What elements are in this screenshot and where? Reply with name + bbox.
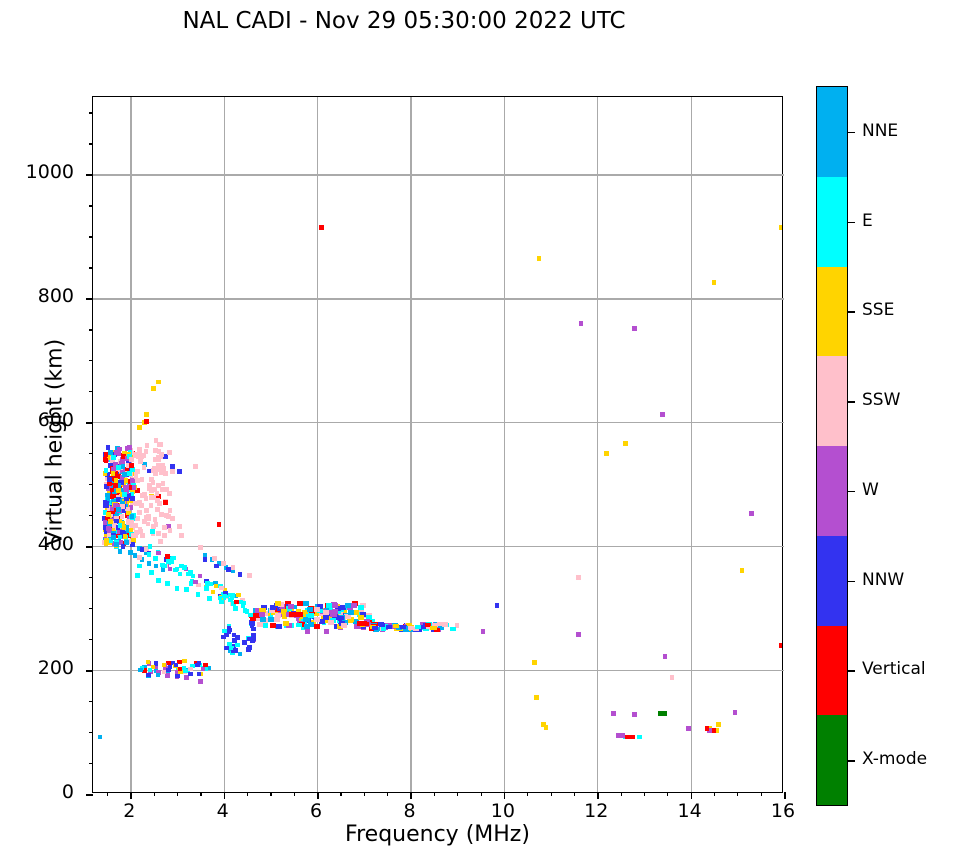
data-point — [297, 601, 303, 606]
data-point — [604, 451, 609, 456]
colorbar-tick — [848, 132, 855, 134]
data-point — [106, 512, 111, 517]
data-point — [779, 643, 782, 648]
x-tick-minor — [107, 792, 108, 796]
data-point — [175, 674, 180, 678]
data-point — [450, 627, 456, 631]
data-point — [130, 514, 135, 519]
data-point — [104, 452, 109, 457]
y-tick-minor — [89, 453, 93, 454]
x-tick-label: 12 — [566, 800, 626, 822]
x-tick-label: 6 — [286, 800, 346, 822]
x-tick-minor — [387, 792, 388, 796]
data-point — [378, 622, 384, 626]
data-point — [250, 638, 255, 642]
data-point — [345, 603, 351, 608]
x-tick-minor — [527, 792, 528, 796]
y-tick-major — [86, 422, 93, 424]
data-point — [198, 679, 203, 684]
plot-area — [92, 96, 783, 793]
colorbar-tick — [848, 401, 855, 403]
y-tick-minor — [89, 732, 93, 733]
data-point — [232, 633, 237, 637]
data-point — [156, 673, 161, 677]
x-tick-major — [130, 792, 132, 799]
data-point — [116, 507, 121, 512]
x-tick-major — [224, 792, 226, 799]
data-point — [779, 225, 782, 230]
x-tick-minor — [644, 792, 645, 796]
colorbar-segment-sse — [817, 267, 847, 357]
data-point — [140, 477, 145, 482]
x-tick-minor — [247, 792, 248, 796]
data-point — [304, 624, 310, 629]
y-tick-minor — [89, 329, 93, 330]
data-point — [630, 735, 635, 740]
data-point — [144, 419, 149, 424]
data-point — [289, 612, 295, 617]
data-point — [106, 526, 111, 531]
data-point — [164, 513, 169, 518]
data-point — [121, 464, 126, 469]
y-tick-minor — [89, 267, 93, 268]
data-point — [134, 474, 139, 479]
data-point — [138, 459, 143, 464]
data-point — [198, 574, 203, 578]
data-point — [170, 516, 175, 521]
y-tick-minor — [89, 205, 93, 206]
data-point — [105, 503, 110, 508]
data-point — [162, 525, 167, 530]
data-point — [288, 604, 294, 609]
data-point — [415, 625, 421, 629]
x-tick-minor — [714, 792, 715, 796]
data-point — [222, 594, 227, 598]
data-point — [116, 465, 121, 470]
data-point — [111, 535, 116, 540]
data-point — [107, 477, 112, 482]
data-point — [108, 519, 113, 524]
data-point — [156, 531, 161, 536]
data-point — [170, 469, 175, 474]
data-point — [149, 570, 154, 575]
data-point — [205, 581, 210, 585]
data-point — [227, 628, 232, 632]
data-point — [153, 471, 158, 476]
colorbar-tick — [848, 311, 855, 313]
data-point — [393, 624, 399, 628]
data-point — [135, 573, 140, 578]
data-point — [137, 555, 142, 560]
data-point — [576, 575, 581, 580]
x-tick-minor — [761, 792, 762, 796]
data-point — [125, 507, 130, 512]
data-point — [179, 564, 184, 568]
data-point — [344, 614, 350, 619]
data-point — [113, 483, 118, 488]
data-point — [188, 667, 193, 671]
data-point — [127, 471, 132, 476]
x-tick-minor — [340, 792, 341, 796]
data-point — [219, 586, 224, 590]
data-point — [145, 443, 150, 448]
data-point — [156, 380, 161, 385]
x-tick-minor — [364, 792, 365, 796]
data-point — [137, 564, 142, 569]
data-point — [110, 488, 115, 493]
x-tick-label: 8 — [379, 800, 439, 822]
data-point — [323, 610, 329, 615]
data-point — [118, 523, 123, 528]
data-point — [144, 515, 149, 520]
data-point — [386, 625, 392, 629]
data-point — [733, 710, 738, 715]
colorbar-tick — [848, 760, 855, 762]
x-axis-label: Frequency (MHz) — [92, 822, 783, 847]
data-point — [233, 648, 238, 652]
colorbar-segment-nne — [817, 87, 847, 177]
data-point — [314, 624, 320, 629]
data-point — [105, 493, 110, 498]
data-point — [171, 556, 176, 560]
data-point — [146, 660, 151, 664]
data-point — [251, 633, 256, 637]
data-point — [144, 496, 149, 501]
data-point — [576, 632, 581, 637]
data-point — [148, 544, 153, 548]
data-point — [686, 726, 691, 731]
data-point — [294, 612, 300, 617]
data-point — [363, 622, 369, 626]
data-point — [166, 668, 171, 672]
data-point — [221, 561, 226, 566]
data-point — [236, 593, 241, 597]
data-point — [136, 454, 141, 459]
data-point — [319, 225, 324, 230]
data-point — [332, 603, 338, 608]
data-point — [712, 280, 717, 285]
y-tick-minor — [89, 360, 93, 361]
data-point — [226, 567, 231, 572]
data-point — [162, 533, 167, 538]
data-point — [118, 549, 123, 554]
colorbar-label-ssw: SSW — [862, 390, 900, 410]
data-point — [182, 659, 187, 663]
data-point — [324, 629, 329, 634]
data-point — [149, 503, 154, 508]
data-point — [153, 448, 158, 453]
data-point — [160, 463, 165, 468]
x-tick-minor — [177, 792, 178, 796]
data-point — [203, 557, 208, 562]
data-point — [177, 524, 182, 529]
data-point — [274, 617, 280, 622]
data-point — [147, 561, 152, 566]
data-point — [156, 578, 161, 583]
x-tick-major — [691, 792, 693, 799]
data-point — [158, 442, 163, 447]
data-point — [165, 581, 170, 586]
data-point — [623, 441, 628, 446]
data-point — [148, 668, 153, 672]
data-point — [177, 469, 182, 474]
data-point — [238, 652, 243, 657]
data-point — [135, 516, 140, 521]
data-point — [144, 412, 149, 417]
x-tick-minor — [294, 792, 295, 796]
data-point — [127, 445, 132, 450]
data-point — [358, 605, 364, 610]
data-point — [193, 580, 198, 584]
data-point — [184, 587, 189, 592]
data-point — [532, 660, 537, 665]
data-point — [146, 673, 151, 677]
data-point — [275, 601, 281, 606]
data-point — [114, 542, 119, 547]
data-point — [663, 654, 668, 659]
data-point — [129, 463, 134, 468]
data-point — [332, 609, 338, 614]
y-tick-major — [86, 298, 93, 300]
data-point — [495, 603, 500, 608]
data-point — [263, 623, 268, 628]
data-point — [231, 565, 236, 570]
data-point — [151, 386, 156, 391]
data-point — [179, 533, 184, 538]
data-point — [207, 596, 212, 601]
data-point — [637, 735, 642, 740]
data-point — [132, 485, 137, 490]
data-point — [137, 425, 142, 430]
x-tick-minor — [154, 792, 155, 796]
data-point — [116, 488, 121, 493]
data-point — [442, 623, 448, 627]
data-point — [197, 672, 202, 676]
data-point — [165, 554, 170, 558]
data-point — [156, 551, 161, 555]
data-point — [233, 606, 238, 611]
data-point — [138, 529, 143, 534]
x-tick-major — [784, 792, 786, 799]
y-axis-label: Virtual height (km) — [43, 293, 68, 593]
y-tick-minor — [89, 608, 93, 609]
x-tick-minor — [667, 792, 668, 796]
data-point — [283, 621, 289, 626]
colorbar-label-nne: NNE — [862, 121, 898, 141]
x-tick-minor — [200, 792, 201, 796]
data-point — [227, 642, 232, 646]
y-tick-major — [86, 546, 93, 548]
colorbar-tick — [848, 670, 855, 672]
y-tick-minor — [89, 391, 93, 392]
data-point — [175, 567, 180, 571]
data-point — [534, 695, 539, 700]
data-point — [142, 465, 147, 470]
data-point — [740, 568, 745, 573]
data-point — [251, 627, 256, 631]
data-point — [307, 607, 313, 612]
colorbar-segment-ssw — [817, 356, 847, 446]
data-point — [314, 617, 320, 622]
data-point — [238, 572, 243, 577]
data-point — [212, 556, 217, 561]
y-tick-minor — [89, 236, 93, 237]
y-tick-major — [86, 794, 93, 796]
x-tick-minor — [434, 792, 435, 796]
colorbar-tick — [848, 581, 855, 583]
data-point — [170, 464, 175, 469]
data-point — [161, 481, 166, 486]
data-point — [104, 468, 109, 473]
data-point — [163, 471, 168, 476]
data-point — [248, 613, 253, 617]
data-point — [163, 500, 168, 505]
y-tick-minor — [89, 484, 93, 485]
data-point — [108, 450, 113, 455]
data-point — [195, 663, 200, 667]
data-point — [159, 452, 164, 457]
figure-root: NAL CADI - Nov 29 05:30:00 2022 UTC 2468… — [0, 0, 958, 857]
data-point — [178, 572, 183, 576]
colorbar-label-sse: SSE — [862, 300, 894, 320]
data-point — [144, 449, 149, 454]
y-tick-minor — [89, 112, 93, 113]
x-tick-major — [317, 792, 319, 799]
data-point — [611, 711, 616, 716]
y-tick-minor — [89, 701, 93, 702]
colorbar-segment-x-mode — [817, 715, 847, 805]
data-point — [147, 483, 152, 488]
colorbar-label-x-mode: X-mode — [862, 749, 927, 769]
data-point — [111, 455, 116, 460]
data-point — [235, 643, 240, 647]
data-point — [242, 640, 247, 645]
data-point — [481, 629, 486, 634]
data-point — [224, 633, 229, 637]
data-point — [191, 574, 196, 578]
data-point — [111, 471, 116, 476]
data-point — [259, 616, 265, 621]
data-point — [137, 510, 142, 515]
data-point — [211, 590, 216, 594]
data-point — [579, 321, 584, 326]
data-point — [198, 545, 203, 550]
data-point — [251, 622, 256, 626]
x-tick-major — [410, 792, 412, 799]
data-point — [408, 626, 414, 630]
data-point — [129, 522, 134, 527]
x-tick-label: 4 — [193, 800, 253, 822]
colorbar-segment-w — [817, 446, 847, 536]
data-point — [149, 495, 154, 500]
data-point — [232, 638, 237, 642]
data-point — [217, 522, 222, 527]
data-point — [167, 450, 172, 455]
y-tick-label: 1000 — [0, 161, 74, 183]
data-point — [705, 726, 710, 731]
data-point — [632, 712, 637, 717]
data-point — [214, 584, 219, 588]
data-layer — [93, 97, 782, 792]
data-point — [247, 573, 252, 578]
data-point — [270, 623, 276, 628]
data-point — [348, 610, 354, 615]
data-point — [168, 528, 173, 533]
data-point — [159, 512, 164, 517]
colorbar-label-vertical: Vertical — [862, 659, 926, 679]
colorbar-segment-e — [817, 177, 847, 267]
y-tick-major — [86, 670, 93, 672]
data-point — [243, 608, 248, 612]
data-point — [147, 552, 152, 556]
data-point — [305, 629, 310, 634]
data-point — [144, 508, 149, 513]
y-tick-minor — [89, 577, 93, 578]
y-tick-minor — [89, 639, 93, 640]
data-point — [122, 492, 127, 497]
y-tick-label: 200 — [0, 657, 74, 679]
x-tick-minor — [481, 792, 482, 796]
data-point — [155, 491, 160, 496]
x-tick-major — [597, 792, 599, 799]
data-point — [372, 626, 378, 630]
data-point — [222, 629, 227, 633]
data-point — [178, 667, 183, 671]
y-tick-minor — [89, 763, 93, 764]
chart-title: NAL CADI - Nov 29 05:30:00 2022 UTC — [0, 8, 808, 34]
data-point — [150, 529, 155, 534]
data-point — [188, 672, 193, 676]
data-point — [155, 498, 160, 503]
data-point — [214, 564, 219, 569]
colorbar — [816, 86, 848, 806]
data-point — [660, 412, 665, 417]
data-point — [165, 487, 170, 492]
data-point — [186, 572, 191, 576]
data-point — [219, 599, 224, 604]
data-point — [167, 491, 172, 496]
colorbar-label-e: E — [862, 211, 873, 231]
data-point — [201, 667, 206, 671]
data-point — [103, 520, 108, 525]
data-point — [296, 623, 302, 628]
y-tick-minor — [89, 515, 93, 516]
data-point — [154, 522, 159, 527]
y-tick-label: 0 — [0, 781, 74, 803]
data-point — [104, 538, 109, 543]
data-point — [175, 586, 180, 591]
data-point — [133, 534, 138, 539]
x-tick-minor — [621, 792, 622, 796]
colorbar-segment-nnw — [817, 536, 847, 626]
x-tick-minor — [551, 792, 552, 796]
data-point — [663, 711, 668, 716]
data-point — [140, 547, 145, 552]
x-tick-minor — [457, 792, 458, 796]
data-point — [259, 612, 265, 617]
x-tick-label: 14 — [660, 800, 720, 822]
data-point — [104, 458, 109, 463]
x-tick-minor — [574, 792, 575, 796]
data-point — [158, 539, 163, 544]
data-point — [276, 624, 282, 629]
data-point — [544, 725, 549, 730]
colorbar-tick — [848, 491, 855, 493]
data-point — [162, 663, 167, 667]
data-point — [154, 564, 159, 569]
data-point — [193, 464, 198, 469]
colorbar-label-nnw: NNW — [862, 570, 904, 590]
